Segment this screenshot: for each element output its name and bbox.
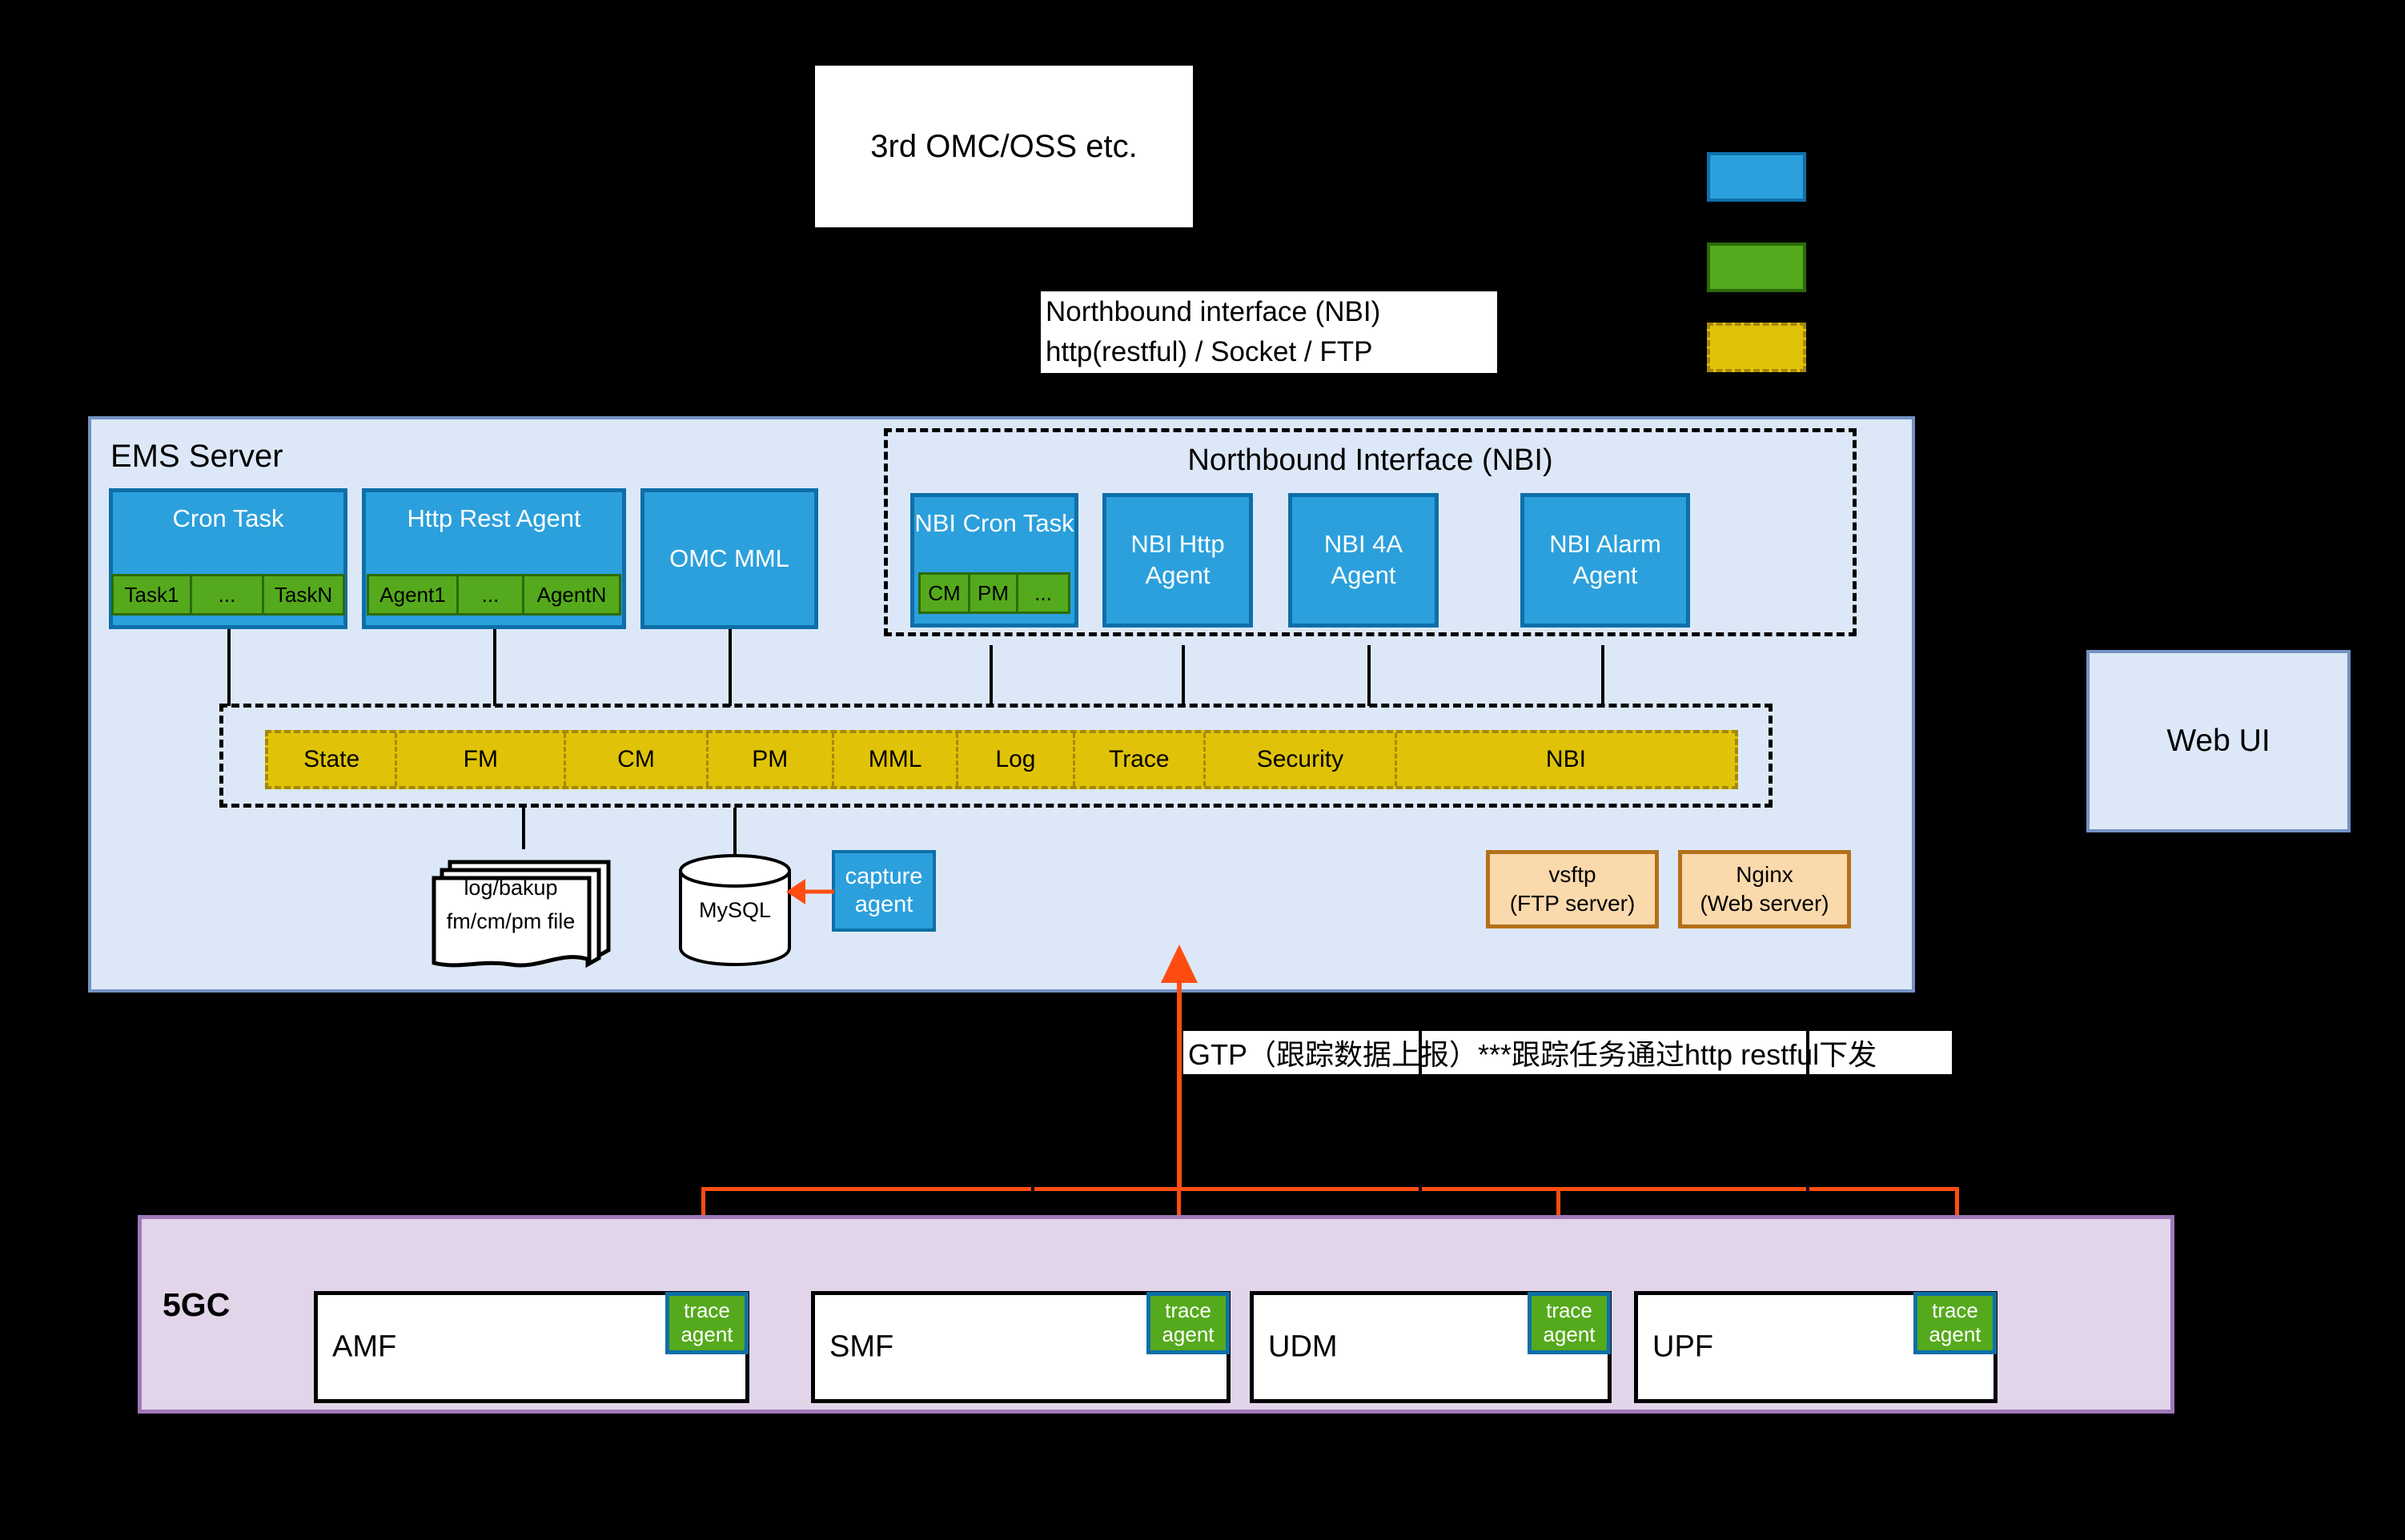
trace-agent-udm[interactable]: trace agent [1528, 1292, 1611, 1354]
diagram-canvas: 3rd OMC/OSS etc. Northbound interface (N… [0, 0, 2405, 1540]
cron-task-sub-0: Task1 [114, 576, 192, 613]
server-nginx-line-2: (Web server) [1700, 889, 1829, 918]
arrow-capture-agent-to-mysql [785, 877, 834, 906]
ems-server-panel: EMS Server Cron Task Task1 ... TaskN Htt… [88, 416, 1915, 993]
nbi-group-container: Northbound Interface (NBI) NBI Cron Task… [884, 428, 1857, 636]
component-nbi-alarm-agent[interactable]: NBI Alarm Agent [1520, 493, 1690, 628]
service-cell-log[interactable]: Log [958, 733, 1074, 786]
capture-agent-line-2: agent [855, 891, 913, 919]
service-cell-fm[interactable]: FM [397, 733, 566, 786]
network-function-upf[interactable]: UPF trace agent [1634, 1291, 1997, 1403]
connector-services-to-mysql [733, 808, 737, 856]
component-cron-task[interactable]: Cron Task Task1 ... TaskN [109, 488, 347, 629]
service-cell-nbi[interactable]: NBI [1397, 733, 1735, 786]
component-nbi-cron-task-title: NBI Cron Task [914, 497, 1074, 539]
network-function-smf[interactable]: SMF trace agent [811, 1291, 1231, 1403]
trace-agent-smf-line-2: agent [1162, 1323, 1214, 1347]
server-vsftp: vsftp (FTP server) [1486, 850, 1659, 928]
network-function-udm[interactable]: UDM trace agent [1250, 1291, 1612, 1403]
external-omc-oss-box: 3rd OMC/OSS etc. [815, 66, 1193, 227]
trace-bus-horizontal [701, 1187, 1958, 1191]
nbi-cron-task-sub-1: PM [970, 575, 1018, 612]
file-store-line-1: log/bakup [432, 872, 589, 905]
external-omc-oss-label: 3rd OMC/OSS etc. [870, 129, 1137, 165]
nbi-protocol-line-1: Northbound interface (NBI) [1046, 292, 1380, 332]
network-function-smf-label: SMF [829, 1330, 893, 1365]
trace-agent-udm-line-2: agent [1543, 1323, 1595, 1347]
service-cell-trace[interactable]: Trace [1075, 733, 1206, 786]
cron-task-sub-1: ... [192, 576, 264, 613]
connector-services-to-filestore [522, 808, 525, 849]
component-nbi-http-agent-title: NBI Http Agent [1130, 529, 1224, 592]
connector-nbi-alarm-agent [1601, 645, 1604, 706]
server-vsftp-line-1: vsftp [1548, 860, 1596, 889]
component-nbi-4a-agent-title: NBI 4A Agent [1324, 529, 1403, 592]
service-cell-security[interactable]: Security [1206, 733, 1397, 786]
nbi-cron-task-sub-0: CM [921, 575, 970, 612]
http-rest-agent-sub-2: AgentN [524, 576, 619, 613]
web-ui-label: Web UI [2166, 724, 2270, 759]
component-nbi-cron-task[interactable]: NBI Cron Task CM PM ... [910, 493, 1078, 628]
trace-agent-amf[interactable]: trace agent [665, 1292, 749, 1354]
services-bar: State FM CM PM MML Log Trace Security NB… [265, 730, 1738, 789]
file-store-text: log/bakup fm/cm/pm file [432, 872, 589, 939]
service-cell-pm[interactable]: PM [709, 733, 834, 786]
gtp-annotation-label: GTP（跟踪数据上报）***跟踪任务通过http restful下发 [1183, 1031, 1952, 1074]
service-cell-cm[interactable]: CM [566, 733, 708, 786]
trace-agent-upf-line-2: agent [1929, 1323, 1981, 1347]
mysql-label: MySQL [676, 898, 794, 923]
nbi-cron-task-sub-2: ... [1018, 575, 1068, 612]
file-store-line-2: fm/cm/pm file [432, 905, 589, 939]
component-cron-task-title: Cron Task [173, 492, 284, 535]
trace-agent-upf[interactable]: trace agent [1913, 1292, 1997, 1354]
network-function-upf-label: UPF [1652, 1330, 1713, 1365]
service-cell-state[interactable]: State [268, 733, 397, 786]
connector-nbi-4a-agent [1367, 645, 1371, 706]
network-function-udm-label: UDM [1268, 1330, 1338, 1365]
trace-agent-smf-line-1: trace [1165, 1299, 1211, 1323]
server-nginx: Nginx (Web server) [1678, 850, 1851, 928]
capture-agent-line-1: capture [845, 863, 923, 891]
server-vsftp-line-2: (FTP server) [1510, 889, 1636, 918]
nbi-cron-task-subitems: CM PM ... [918, 572, 1070, 614]
legend-swatch-blue [1707, 152, 1806, 202]
trace-agent-upf-line-1: trace [1932, 1299, 1978, 1323]
nbi-group-title: Northbound Interface (NBI) [888, 443, 1853, 478]
component-nbi-http-agent[interactable]: NBI Http Agent [1102, 493, 1253, 628]
mysql-database-cylinder: MySQL [676, 852, 794, 968]
trace-agent-udm-line-1: trace [1546, 1299, 1592, 1323]
service-cell-mml[interactable]: MML [834, 733, 958, 786]
cron-task-sub-2: TaskN [264, 576, 343, 613]
gtp-annotation-text: GTP（跟踪数据上报）***跟踪任务通过http restful下发 [1188, 1032, 1877, 1073]
http-rest-agent-sub-0: Agent1 [369, 576, 459, 613]
web-ui-box[interactable]: Web UI [2086, 650, 2351, 832]
connector-oss-to-ems [1002, 227, 1006, 416]
fivegc-title: 5GC [163, 1286, 230, 1324]
file-store-document-stack: log/bakup fm/cm/pm file [428, 848, 620, 972]
nbi-protocol-line-2: http(restful) / Socket / FTP [1046, 332, 1372, 372]
fivegc-panel: 5GC AMF trace agent SMF trace agent UDM … [138, 1215, 2174, 1414]
nbi-protocol-label: Northbound interface (NBI) http(restful)… [1041, 291, 1497, 373]
connector-nbi-cron-task [990, 645, 993, 706]
legend-swatch-yellow [1707, 323, 1806, 372]
arrow-trace-bus-to-capture-agent [1156, 943, 1202, 1191]
services-bar-container: State FM CM PM MML Log Trace Security NB… [219, 704, 1773, 808]
component-nbi-4a-agent[interactable]: NBI 4A Agent [1288, 493, 1439, 628]
component-nbi-alarm-agent-title: NBI Alarm Agent [1549, 529, 1661, 592]
network-function-amf[interactable]: AMF trace agent [314, 1291, 749, 1403]
legend-swatch-green [1707, 243, 1806, 292]
ems-server-title: EMS Server [110, 439, 283, 475]
connector-nbi-http-agent [1182, 645, 1185, 706]
trace-agent-amf-line-1: trace [684, 1299, 730, 1323]
connector-http-rest-agent [493, 629, 496, 706]
http-rest-agent-subitems: Agent1 ... AgentN [367, 574, 621, 616]
connector-omc-mml [729, 629, 732, 706]
trace-agent-smf[interactable]: trace agent [1146, 1292, 1230, 1354]
server-nginx-line-1: Nginx [1736, 860, 1793, 889]
capture-agent-box[interactable]: capture agent [832, 850, 936, 932]
trace-agent-amf-line-2: agent [681, 1323, 733, 1347]
cron-task-subitems: Task1 ... TaskN [111, 574, 345, 616]
component-http-rest-agent[interactable]: Http Rest Agent Agent1 ... AgentN [362, 488, 626, 629]
network-function-amf-label: AMF [332, 1330, 396, 1365]
component-omc-mml-title: OMC MML [669, 543, 789, 575]
component-omc-mml[interactable]: OMC MML [640, 488, 818, 629]
http-rest-agent-sub-1: ... [459, 576, 524, 613]
component-http-rest-agent-title: Http Rest Agent [407, 492, 580, 535]
connector-cron-task [227, 629, 231, 706]
